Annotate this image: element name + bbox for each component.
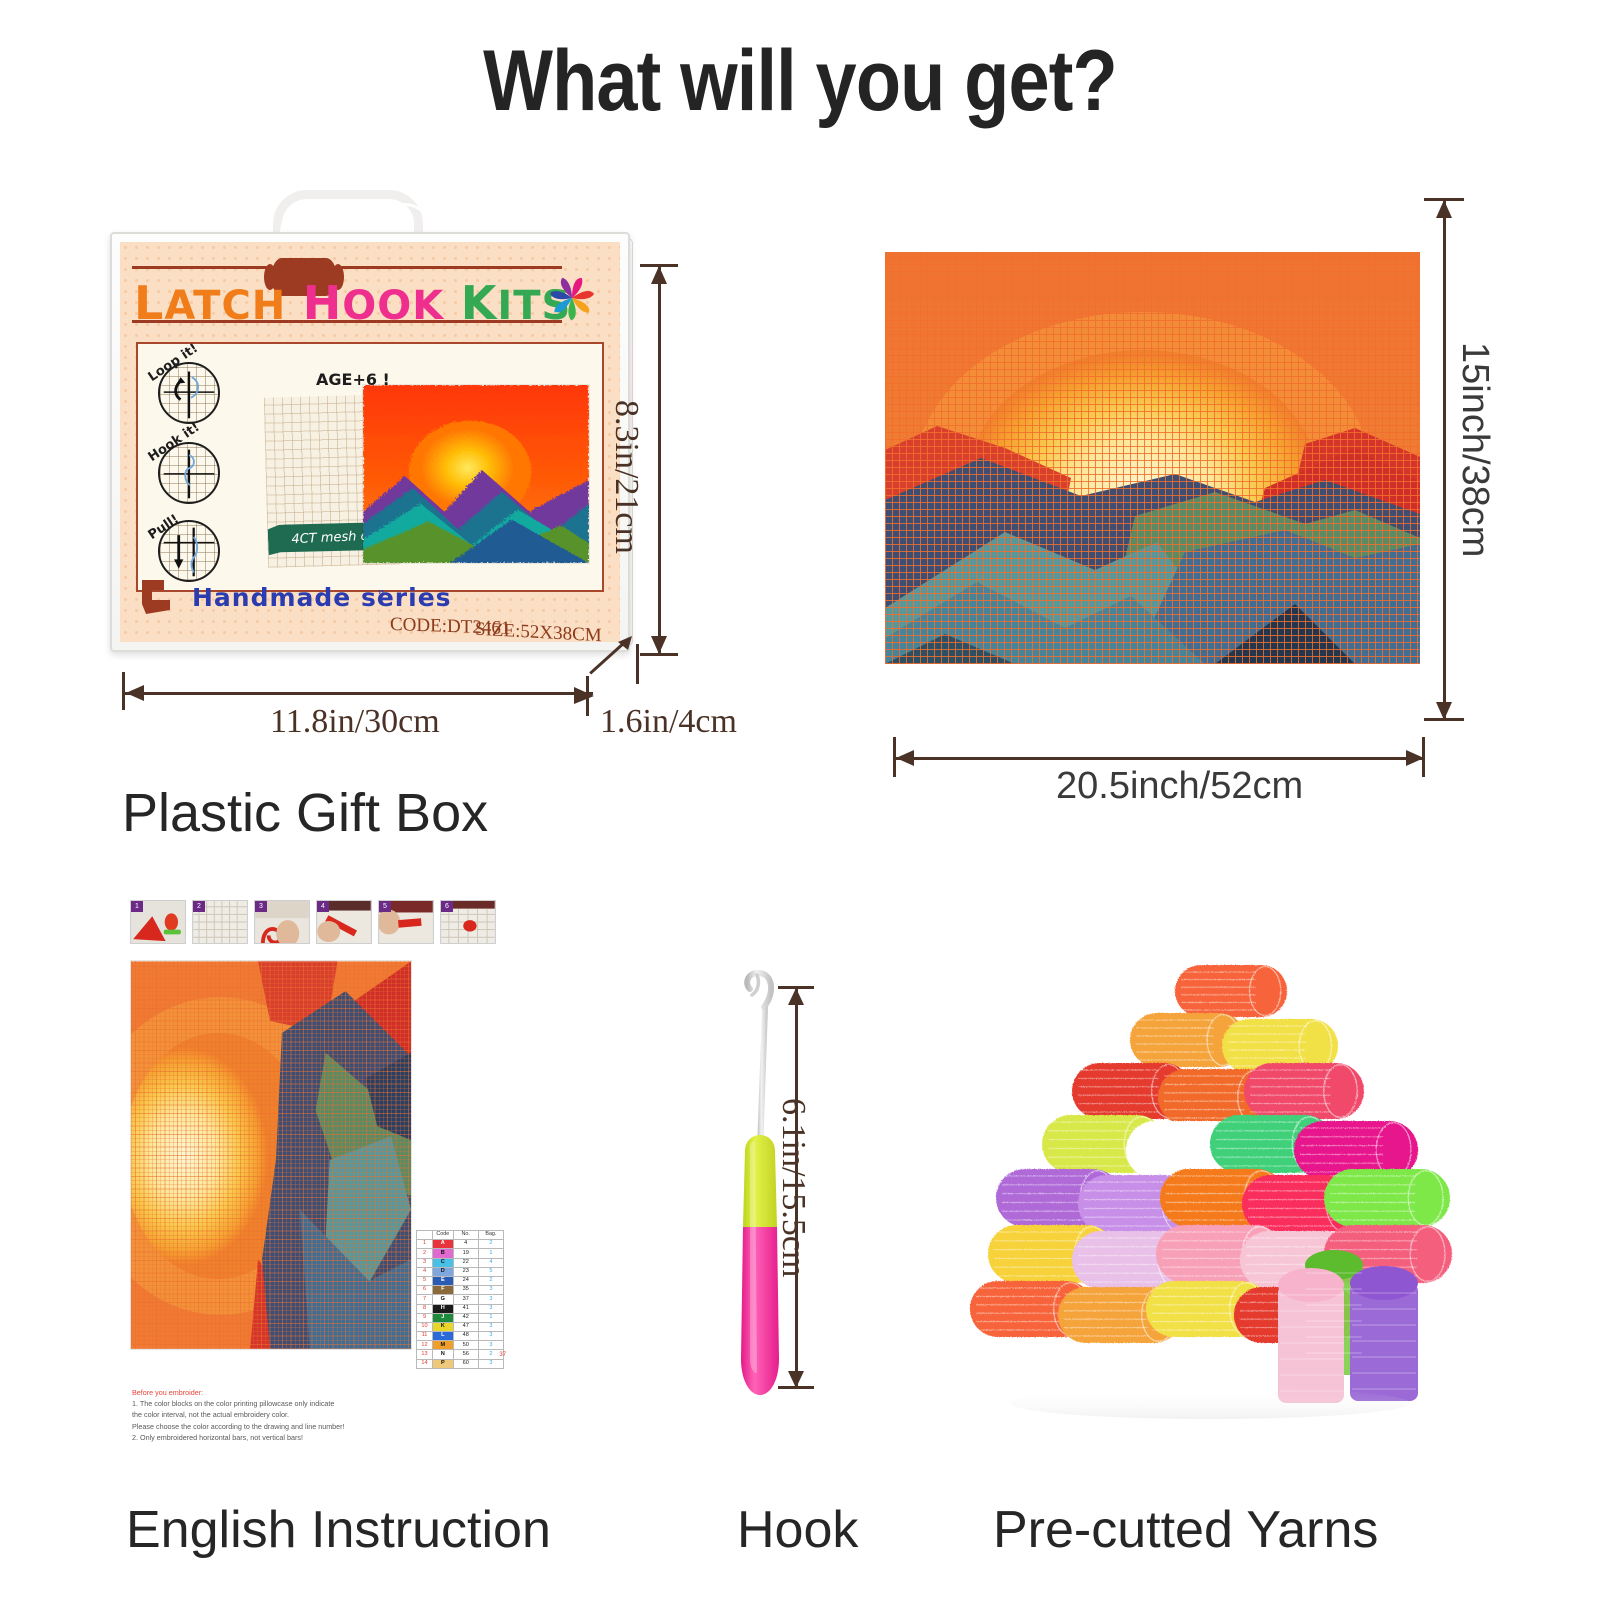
arrow-down-icon bbox=[788, 1370, 805, 1388]
caption-pre-cutted-yarns: Pre-cutted Yarns bbox=[993, 1500, 1378, 1560]
legend-code: J bbox=[433, 1313, 454, 1322]
legend-header-idx bbox=[417, 1231, 433, 1240]
table-row: 1A42 bbox=[417, 1240, 504, 1249]
arrow-right-icon bbox=[572, 686, 594, 704]
table-row: 8H413 bbox=[417, 1304, 504, 1313]
yarn-cut-face bbox=[1324, 1065, 1358, 1118]
legend-bag: 3 bbox=[478, 1341, 503, 1350]
instruction-thumbnail-strip: 1 1 2 2 3 3 4 4 5 5 6 6 bbox=[130, 900, 500, 954]
arrow-up-icon bbox=[788, 988, 805, 1006]
legend-code: E bbox=[433, 1276, 454, 1285]
legend-code: K bbox=[433, 1322, 454, 1331]
legend-no: 41 bbox=[453, 1304, 478, 1313]
legend-no: 23 bbox=[453, 1267, 478, 1276]
thumb-number: 6 bbox=[441, 901, 453, 912]
box-front-artwork: LLatchATCH HOOK KITS bbox=[120, 242, 620, 642]
product-size: SIZE:52X38CM bbox=[475, 619, 602, 642]
legend-no: 60 bbox=[453, 1359, 478, 1368]
canvas-width-label: 20.5inch/52cm bbox=[1056, 765, 1303, 808]
legend-index: 10 bbox=[417, 1322, 433, 1331]
legend-total: 37 bbox=[499, 1352, 506, 1358]
legend-bag: 3 bbox=[478, 1322, 503, 1331]
yarn-cut-face bbox=[1410, 1227, 1445, 1282]
handmade-quote-mark: ” bbox=[378, 587, 384, 608]
box-width-label: 11.8in/30cm bbox=[270, 703, 440, 741]
table-row: 4D235 bbox=[417, 1267, 504, 1276]
legend-index: 11 bbox=[417, 1332, 433, 1341]
box-depth-label: 1.6in/4cm bbox=[600, 703, 737, 741]
legend-no: 56 bbox=[453, 1350, 478, 1359]
arrow-upright-icon bbox=[612, 636, 632, 654]
legend-code: N bbox=[433, 1350, 454, 1359]
legend-bag: 3 bbox=[478, 1304, 503, 1313]
page-title: What will you get? bbox=[112, 32, 1488, 131]
table-row: 2B191 bbox=[417, 1249, 504, 1258]
arrow-up-icon bbox=[1435, 200, 1453, 220]
legend-index: 13 bbox=[417, 1350, 433, 1359]
caption-plastic-gift-box: Plastic Gift Box bbox=[122, 782, 488, 844]
list-item: 3 3 bbox=[254, 900, 310, 944]
box-width-dim-line bbox=[125, 692, 593, 695]
legend-code: F bbox=[433, 1286, 454, 1295]
canvas-artwork bbox=[885, 252, 1420, 664]
canvas-width-dim-line bbox=[895, 757, 1425, 760]
finished-rug-photo bbox=[362, 384, 590, 564]
box-body: LLatchATCH HOOK KITS bbox=[110, 232, 630, 652]
legend-index: 1 bbox=[417, 1240, 433, 1249]
legend-header-bag: Bag. bbox=[478, 1231, 503, 1240]
table-row: 13N562 bbox=[417, 1350, 504, 1359]
legend-no: 47 bbox=[453, 1322, 478, 1331]
table-row: 10K473 bbox=[417, 1322, 504, 1331]
thumb-number: 2 bbox=[193, 901, 205, 912]
table-row: 9J421 bbox=[417, 1313, 504, 1322]
legend-bag: 2 bbox=[478, 1276, 503, 1285]
legend-code: M bbox=[433, 1341, 454, 1350]
legend-header-no: No. bbox=[453, 1231, 478, 1240]
list-item: 2 2 bbox=[192, 900, 248, 944]
legend-bag: 5 bbox=[478, 1267, 503, 1276]
table-row: 11L483 bbox=[417, 1332, 504, 1341]
legend-code: P bbox=[433, 1359, 454, 1368]
hook-dim-label: 6.1in/15.5cm bbox=[774, 1098, 812, 1277]
table-row: 3C224 bbox=[417, 1258, 504, 1267]
legend-no: 19 bbox=[453, 1249, 478, 1258]
legend-index: 3 bbox=[417, 1258, 433, 1267]
thumb-number: 1 bbox=[131, 901, 143, 912]
legend-code: G bbox=[433, 1295, 454, 1304]
arrow-right-icon bbox=[1404, 749, 1424, 767]
legend-code: B bbox=[433, 1249, 454, 1258]
arrow-left-icon bbox=[896, 749, 916, 767]
thumb-number: 4 bbox=[317, 901, 329, 912]
table-row: 12M503 bbox=[417, 1341, 504, 1350]
handmade-arrow-icon bbox=[138, 574, 190, 620]
legend-code: C bbox=[433, 1258, 454, 1267]
box-instruction-panel: Loop it! Hook it! bbox=[136, 342, 604, 592]
legend-no: 4 bbox=[453, 1240, 478, 1249]
legend-no: 22 bbox=[453, 1258, 478, 1267]
table-row: 7G373 bbox=[417, 1295, 504, 1304]
legend-no: 35 bbox=[453, 1286, 478, 1295]
table-row: 5E242 bbox=[417, 1276, 504, 1285]
yarn-cut-face bbox=[1408, 1171, 1443, 1226]
canvas-height-dim-line bbox=[1443, 200, 1446, 720]
note-line-3: Please choose the color according to the… bbox=[132, 1422, 345, 1431]
arrow-left-icon bbox=[126, 684, 146, 702]
legend-no: 24 bbox=[453, 1276, 478, 1285]
legend-index: 5 bbox=[417, 1276, 433, 1285]
box-height-dim-line bbox=[658, 264, 661, 656]
list-item: 4 4 bbox=[316, 900, 372, 944]
thumb-number: 5 bbox=[379, 901, 391, 912]
instruction-sheet: 1 1 2 2 3 3 4 4 5 5 6 6 bbox=[120, 900, 510, 1480]
pre-cutted-yarns bbox=[960, 935, 1470, 1425]
note-line-1: 1. The color blocks on the color printin… bbox=[132, 1399, 334, 1408]
color-legend-table: Code No. Bag. 1A422B1913C2244D2355E2426F… bbox=[416, 1230, 504, 1369]
legend-bag: 4 bbox=[478, 1258, 503, 1267]
legend-bag: 3 bbox=[478, 1286, 503, 1295]
legend-code: A bbox=[433, 1240, 454, 1249]
caption-hook: Hook bbox=[737, 1500, 858, 1560]
handmade-series-text: Handmade series bbox=[192, 583, 452, 612]
legend-bag: 3 bbox=[478, 1359, 503, 1368]
before-you-embroider-note: Before you embroider: 1. The color block… bbox=[132, 1387, 422, 1443]
box-height-label: 8.3in/21cm bbox=[607, 400, 645, 554]
pinwheel-logo bbox=[542, 268, 602, 328]
arrow-down-icon bbox=[1435, 700, 1453, 720]
legend-no: 48 bbox=[453, 1332, 478, 1341]
legend-code: L bbox=[433, 1332, 454, 1341]
note-line-4: 2. Only embroidered horizontal bars, not… bbox=[132, 1433, 303, 1442]
gift-box-illustration: LLatchATCH HOOK KITS bbox=[95, 190, 655, 680]
printed-canvas bbox=[885, 252, 1420, 664]
legend-header-code: Code bbox=[433, 1231, 454, 1240]
legend-index: 9 bbox=[417, 1313, 433, 1322]
table-row: 6F353 bbox=[417, 1286, 504, 1295]
table-header-row: Code No. Bag. bbox=[417, 1231, 504, 1240]
legend-index: 4 bbox=[417, 1267, 433, 1276]
yarn-cut-face bbox=[1250, 967, 1281, 1016]
canvas-height-label: 15inch/38cm bbox=[1453, 342, 1496, 557]
legend-no: 50 bbox=[453, 1341, 478, 1350]
caption-english-instruction: English Instruction bbox=[126, 1500, 551, 1560]
legend-bag: 3 bbox=[478, 1332, 503, 1341]
legend-bag: 2 bbox=[478, 1240, 503, 1249]
arrow-up-icon bbox=[650, 266, 668, 286]
legend-index: 7 bbox=[417, 1295, 433, 1304]
legend-no: 42 bbox=[453, 1313, 478, 1322]
yarn-pile-illustration bbox=[960, 935, 1470, 1425]
list-item: 6 6 bbox=[440, 900, 496, 944]
instruction-color-chart bbox=[130, 960, 412, 1350]
note-heading: Before you embroider: bbox=[132, 1387, 422, 1398]
thumb-number: 3 bbox=[255, 901, 267, 912]
list-item: 1 1 bbox=[130, 900, 186, 944]
legend-bag: 1 bbox=[478, 1249, 503, 1258]
note-line-2: the color interval, not the actual embro… bbox=[132, 1410, 289, 1419]
legend-index: 12 bbox=[417, 1341, 433, 1350]
legend-bag: 1 bbox=[478, 1313, 503, 1322]
legend-index: 2 bbox=[417, 1249, 433, 1258]
legend-code: H bbox=[433, 1304, 454, 1313]
legend-code: D bbox=[433, 1267, 454, 1276]
brand-wordmark: LLatchATCH HOOK KITS bbox=[134, 276, 574, 328]
arrow-down-icon bbox=[650, 634, 668, 654]
legend-no: 37 bbox=[453, 1295, 478, 1304]
list-item: 5 5 bbox=[378, 900, 434, 944]
legend-index: 6 bbox=[417, 1286, 433, 1295]
legend-index: 14 bbox=[417, 1359, 433, 1368]
table-row: 14P603 bbox=[417, 1359, 504, 1368]
legend-bag: 3 bbox=[478, 1295, 503, 1304]
legend-index: 8 bbox=[417, 1304, 433, 1313]
